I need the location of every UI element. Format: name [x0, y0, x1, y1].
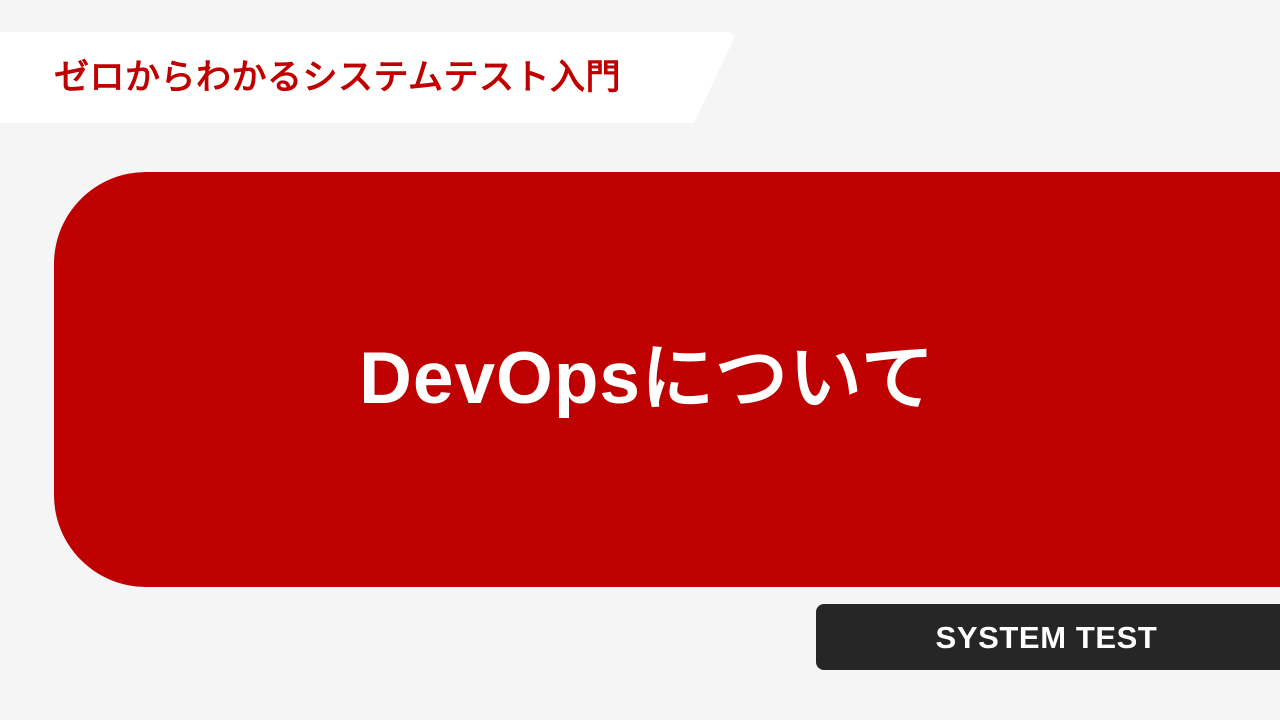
- slide-title: DevOpsについて: [359, 339, 935, 419]
- footer-badge: SYSTEM TEST: [816, 604, 1280, 670]
- footer-badge-label: SYSTEM TEST: [936, 622, 1158, 653]
- series-title: ゼロからわかるシステムテスト入門: [54, 60, 621, 95]
- presentation-slide: ゼロからわかるシステムテスト入門 DevOpsについて SYSTEM TEST: [0, 0, 1280, 720]
- main-content-panel: DevOpsについて: [54, 172, 1280, 587]
- header-ribbon: ゼロからわかるシステムテスト入門: [0, 32, 737, 123]
